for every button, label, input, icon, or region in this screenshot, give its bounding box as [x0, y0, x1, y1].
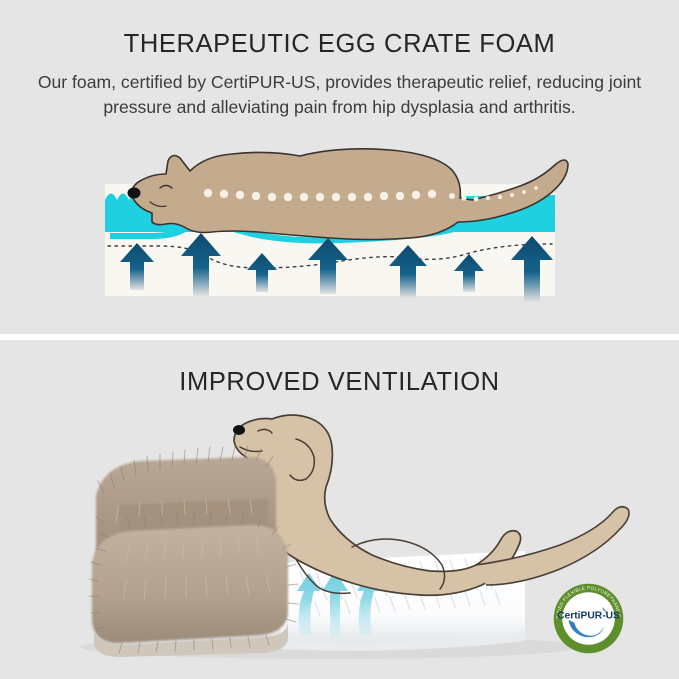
product-infographic: THERAPEUTIC EGG CRATE FOAM Our foam, cer…	[0, 0, 679, 679]
headline-therapeutic-foam: THERAPEUTIC EGG CRATE FOAM	[0, 30, 679, 59]
certipur-us-seal: CERTIFIED FLEXIBLE POLYURETHANE FOAM www…	[553, 583, 624, 654]
headline-improved-ventilation: IMPROVED VENTILATION	[0, 368, 679, 397]
illustration-foam-cross-section	[0, 140, 679, 325]
bolster-front-roll	[92, 525, 288, 643]
dog-nose	[128, 188, 141, 199]
dog-nose	[233, 425, 245, 435]
body-copy-therapeutic-foam: Our foam, certified by CertiPUR-US, prov…	[26, 70, 653, 120]
badge-brand-text: CertiPUR-US	[557, 611, 620, 622]
faux-fur-bolster-bed	[89, 446, 298, 657]
